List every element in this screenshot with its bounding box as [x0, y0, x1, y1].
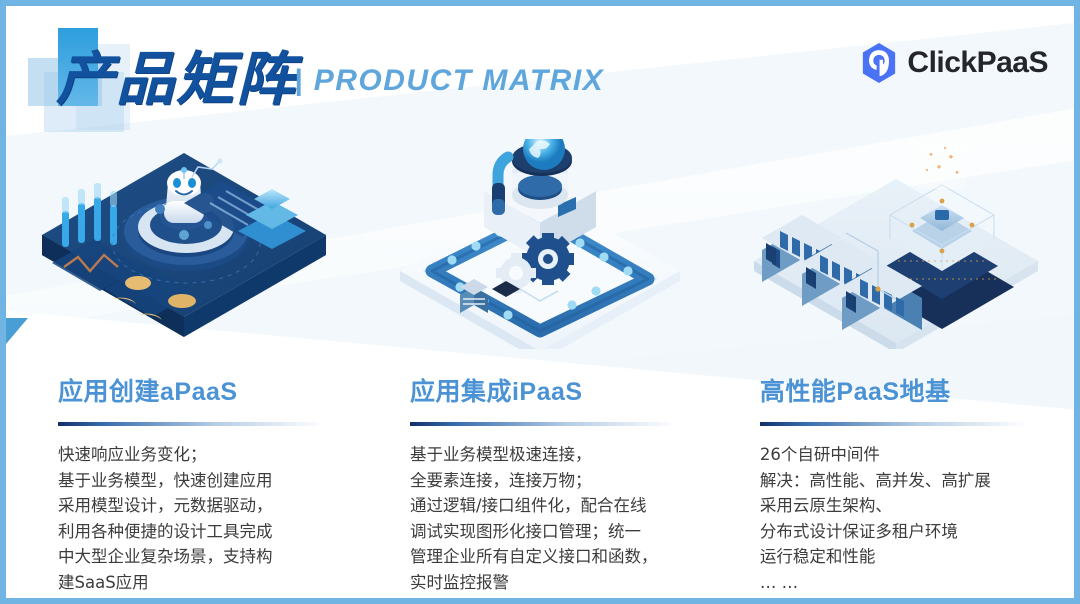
column-heading-paas-foundation: 高性能PaaS地基: [760, 372, 1054, 426]
slide-root: 产品矩阵 | PRODUCT MATRIX ClickPaaS: [0, 0, 1080, 604]
column-body-text: 快速响应业务变化； 基于业务模型，快速创建应用 采用模型设计，元数据驱动， 利用…: [58, 442, 348, 595]
isometric-server-racks-pyramid-illustration: [718, 124, 1074, 364]
column-title: 高性能PaaS地基: [760, 372, 1054, 408]
hexagon-logo-icon: [860, 42, 898, 84]
column-underline: [760, 422, 1028, 426]
product-column-paas-foundation: 高性能PaaS地基 26个自研中间件 解决：高性能、高并发、高扩展 采用云原生架…: [718, 124, 1074, 598]
slide-header: 产品矩阵 | PRODUCT MATRIX ClickPaaS: [6, 6, 1074, 136]
column-heading-apaas: 应用创建aPaaS: [58, 372, 342, 426]
column-body-text: 26个自研中间件 解决：高性能、高并发、高扩展 采用云原生架构、 分布式设计保证…: [760, 442, 1060, 595]
page-title: 产品矩阵: [56, 32, 296, 116]
product-column-ipaas: 应用集成iPaaS 基于业务模型极速连接， 全要素连接，连接万物； 通过逻辑/接…: [362, 124, 718, 598]
product-columns: 应用创建aPaaS 快速响应业务变化； 基于业务模型，快速创建应用 采用模型设计…: [6, 124, 1074, 598]
brand-logo: ClickPaaS: [860, 42, 1048, 84]
isometric-integration-conveyor-illustration: [362, 124, 718, 364]
page-subtitle: | PRODUCT MATRIX: [294, 64, 604, 98]
product-column-apaas: 应用创建aPaaS 快速响应业务变化； 基于业务模型，快速创建应用 采用模型设计…: [6, 124, 362, 598]
column-title: 应用创建aPaaS: [58, 372, 342, 408]
column-body-text: 基于业务模型极速连接， 全要素连接，连接万物； 通过逻辑/接口组件化，配合在线 …: [410, 442, 704, 595]
column-underline: [58, 422, 326, 426]
isometric-robot-dashboard-illustration: [6, 124, 362, 364]
column-title: 应用集成iPaaS: [410, 372, 698, 408]
column-heading-ipaas: 应用集成iPaaS: [410, 372, 698, 426]
column-underline: [410, 422, 678, 426]
brand-logo-text: ClickPaaS: [907, 46, 1048, 80]
slide-canvas: 产品矩阵 | PRODUCT MATRIX ClickPaaS: [6, 6, 1074, 598]
